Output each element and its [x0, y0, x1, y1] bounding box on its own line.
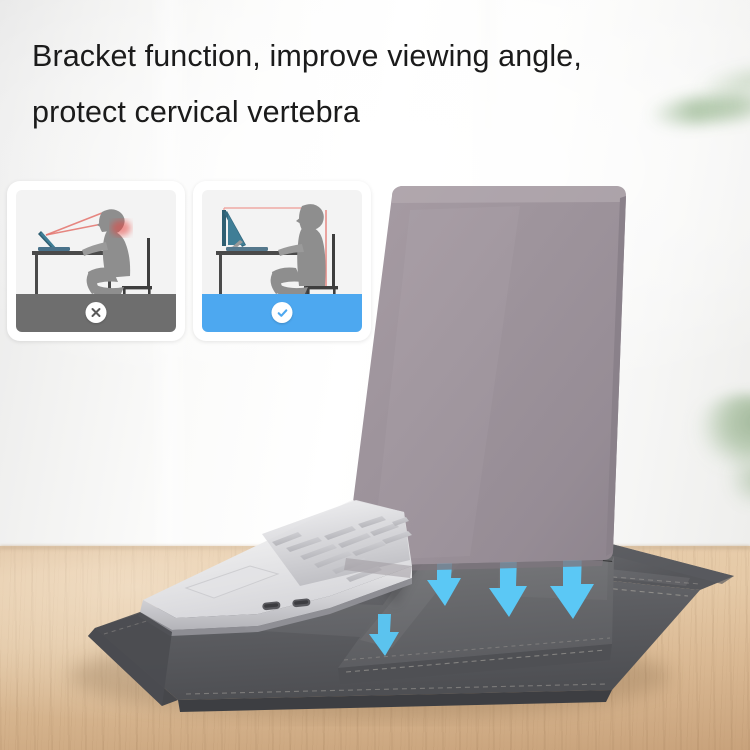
product-marketing-image: Bracket function, improve viewing angle,… [0, 0, 750, 750]
product-photo [0, 0, 750, 750]
